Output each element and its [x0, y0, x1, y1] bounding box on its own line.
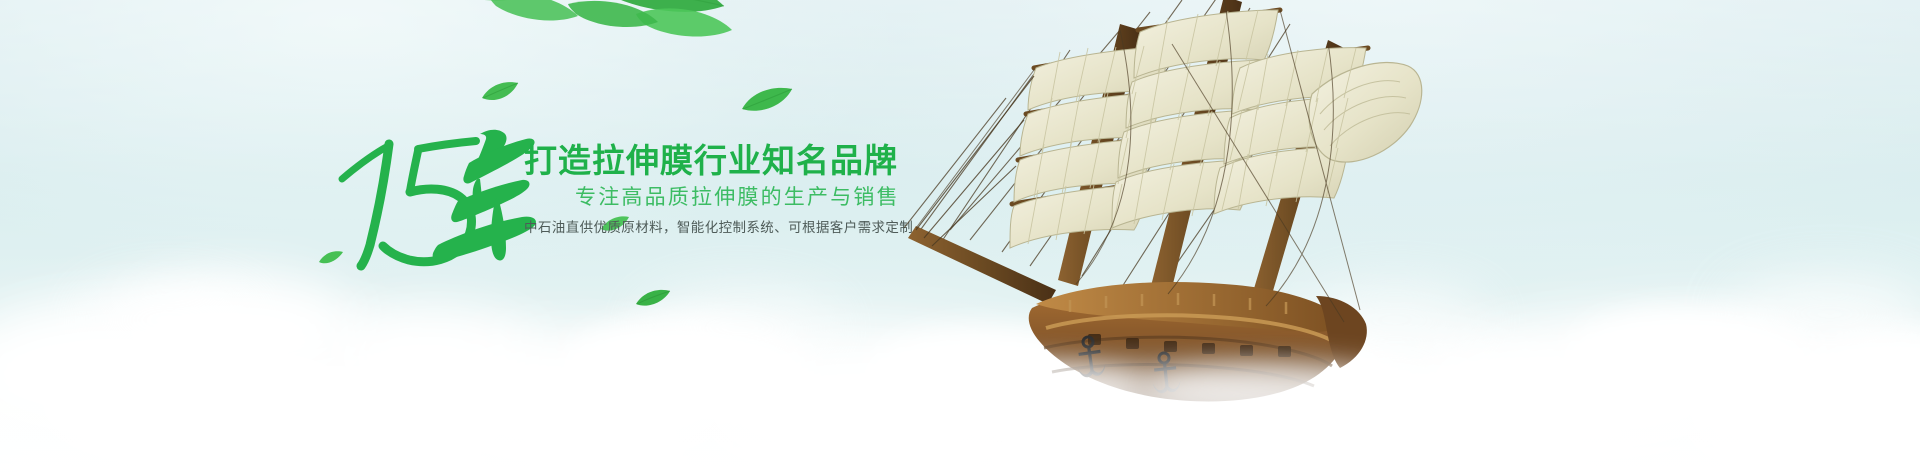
leaf-falling-center-icon — [480, 80, 520, 106]
leaf-cluster-top-left-icon — [400, 0, 740, 80]
leaf-falling-lower-icon — [635, 288, 671, 310]
years-calligraphy — [330, 105, 570, 270]
sailing-ship-image — [820, 0, 1440, 410]
hero-banner: 打造拉伸膜行业知名品牌 专注高品质拉伸膜的生产与销售 中石油直供优质原材料，智能… — [0, 0, 1920, 475]
